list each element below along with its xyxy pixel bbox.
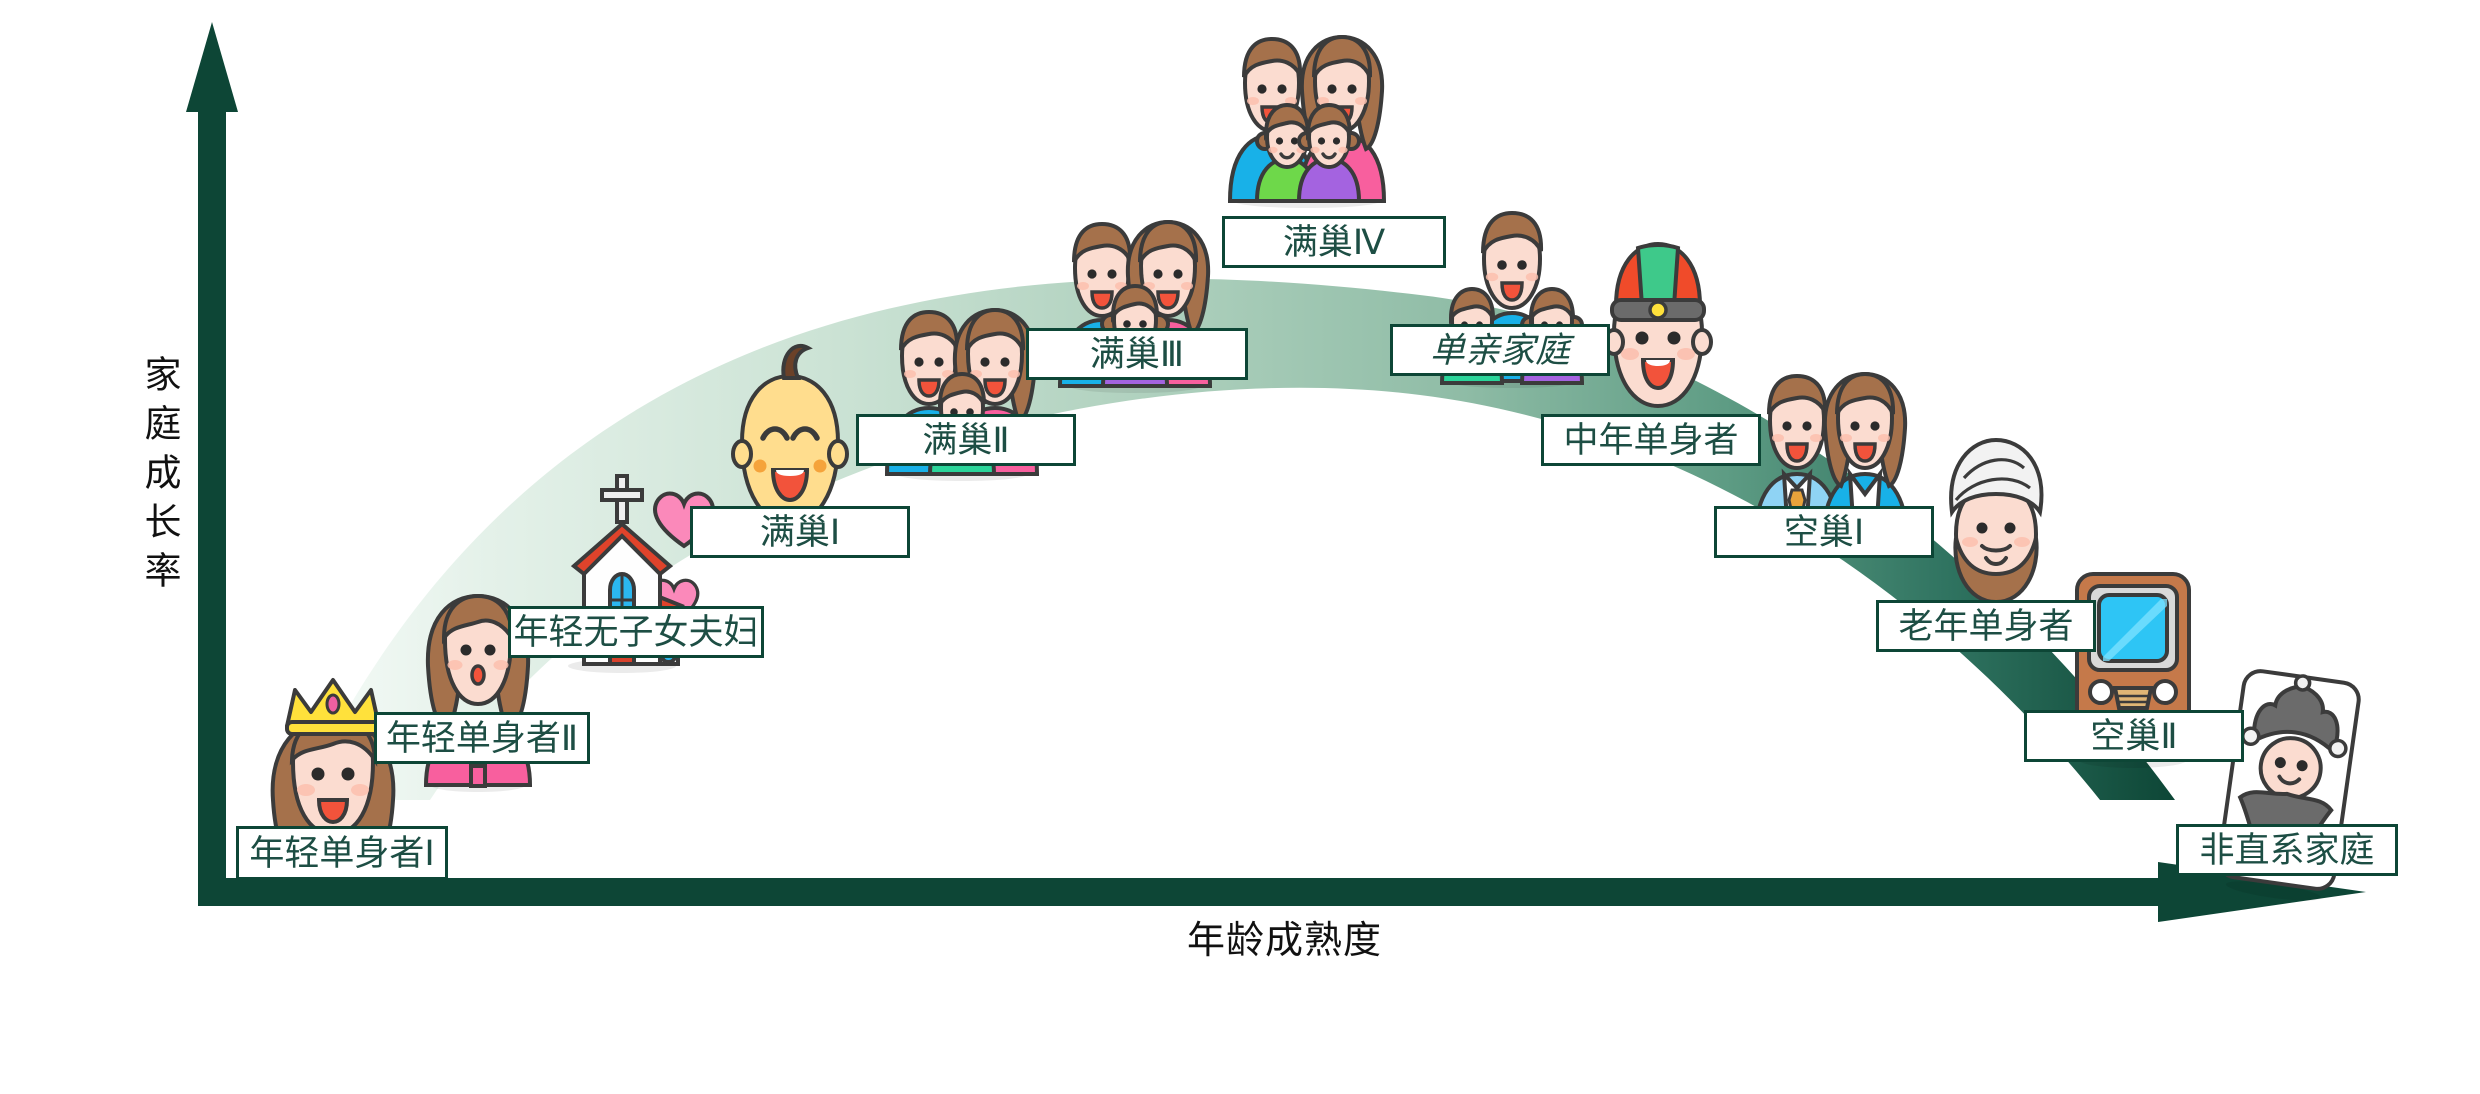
stage-label-extended-family[interactable]: 非直系家庭 (2176, 824, 2398, 876)
icon-man-with-cap (1605, 244, 1711, 429)
stage-label-young-single-2[interactable]: 年轻单身者Ⅱ (374, 712, 590, 764)
stage-label-elder-single[interactable]: 老年单身者 (1876, 600, 2096, 652)
stage-label-empty-nest-1[interactable]: 空巢Ⅰ (1714, 506, 1934, 558)
stage-label-single-parent[interactable]: 单亲家庭 (1390, 324, 1610, 376)
icon-family-four (1230, 37, 1384, 208)
stage-label-full-nest-4[interactable]: 满巢Ⅳ (1222, 216, 1446, 268)
stage-label-young-couple[interactable]: 年轻无子女夫妇 (508, 606, 764, 658)
diagram-canvas: 家庭成长率 年龄成熟度 年轻单身者Ⅰ 年轻单身者Ⅱ 年轻无子女夫妇 满巢Ⅰ 满巢… (0, 0, 2480, 1094)
stage-label-full-nest-1[interactable]: 满巢Ⅰ (690, 506, 910, 558)
stage-label-full-nest-2[interactable]: 满巢Ⅱ (856, 414, 1076, 466)
x-axis-title: 年龄成熟度 (1187, 916, 1382, 967)
stage-label-empty-nest-2[interactable]: 空巢Ⅱ (2024, 710, 2244, 762)
stage-label-young-single-1[interactable]: 年轻单身者Ⅰ (236, 826, 448, 880)
stage-label-full-nest-3[interactable]: 满巢Ⅲ (1026, 328, 1248, 380)
stage-label-middle-single[interactable]: 中年单身者 (1541, 414, 1761, 466)
y-axis-title: 家庭成长率 (138, 355, 184, 600)
